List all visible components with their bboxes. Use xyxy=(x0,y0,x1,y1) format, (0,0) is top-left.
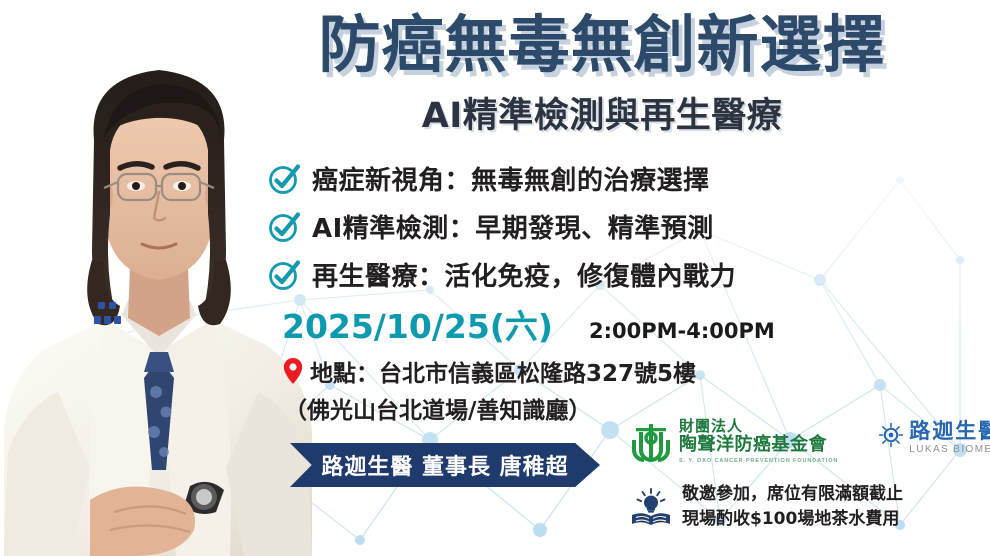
poster-canvas: 防癌無毒無創新選擇 AI精準檢測與再生醫療 癌症新視角：無毒無創的治療選擇 AI… xyxy=(0,0,990,556)
registration-note-text: 敬邀參加，席位有限滿額截止 現場酌收$100場地茶水費用 xyxy=(682,482,903,531)
speaker-name-label: 路迦生醫 董事長 唐稚超 xyxy=(321,449,568,481)
registration-note: 敬邀參加，席位有限滿額截止 現場酌收$100場地茶水費用 xyxy=(630,482,903,531)
list-item: 癌症新視角：無毒無創的治療選擇 xyxy=(268,160,736,197)
speaker-name-banner: 路迦生醫 董事長 唐稚超 xyxy=(290,443,600,487)
page-title: 防癌無毒無創新選擇 xyxy=(226,12,978,79)
check-circle-icon xyxy=(268,259,300,291)
list-item: AI精準檢測：早期發現、精準預測 xyxy=(268,208,736,245)
lightbulb-book-icon xyxy=(630,487,672,527)
foundation-line1: 財團法人 xyxy=(679,418,838,435)
map-pin-icon xyxy=(282,357,304,385)
registration-note-line1: 敬邀參加，席位有限滿額截止 xyxy=(682,482,903,507)
list-item: 再生醫療：活化免疫，修復體內戰力 xyxy=(268,256,736,293)
foundation-english-name: S. Y. DAO CANCER PREVENTION FOUNDATION xyxy=(679,458,838,464)
feature-bullet-list: 癌症新視角：無毒無創的治療選擇 AI精準檢測：早期發現、精準預測 再生醫療：活化… xyxy=(268,160,736,304)
event-date: 2025/10/25(六) xyxy=(282,300,553,348)
foundation-line2: 陶聲洋防癌基金會 xyxy=(679,435,838,456)
registration-note-line2: 現場酌收$100場地茶水費用 xyxy=(682,507,903,532)
check-circle-icon xyxy=(268,211,300,243)
event-details-block: 2025/10/25(六) 2:00PM-4:00PM 地點：台北市信義區松隆路… xyxy=(282,300,775,425)
lukas-cell-icon xyxy=(878,422,904,448)
page-subtitle: AI精準檢測與再生醫療 xyxy=(226,87,978,138)
headline-block: 防癌無毒無創新選擇 AI精準檢測與再生醫療 xyxy=(226,12,978,138)
check-circle-icon xyxy=(268,163,300,195)
list-item-label: 再生醫療：活化免疫，修復體內戰力 xyxy=(312,256,736,293)
event-venue-address: 地點：台北市信義區松隆路327號5樓 xyxy=(310,354,696,388)
list-item-label: AI精準檢測：早期發現、精準預測 xyxy=(312,208,714,245)
lukas-chinese-name: 路迦生醫 xyxy=(909,420,990,442)
lukas-logo: 路迦生醫 LUKAS BIOMEDICAL xyxy=(878,420,990,455)
foundation-text: 財團法人 陶聲洋防癌基金會 S. Y. DAO CANCER PREVENTIO… xyxy=(679,418,838,463)
sponsor-logos: 財團法人 陶聲洋防癌基金會 S. Y. DAO CANCER PREVENTIO… xyxy=(628,418,990,464)
lukas-text: 路迦生醫 LUKAS BIOMEDICAL xyxy=(909,420,990,455)
event-datetime-row: 2025/10/25(六) 2:00PM-4:00PM xyxy=(282,300,775,348)
lukas-english-name: LUKAS BIOMEDICAL xyxy=(909,444,990,455)
list-item-label: 癌症新視角：無毒無創的治療選擇 xyxy=(312,160,710,197)
foundation-tree-icon xyxy=(628,418,674,464)
event-venue-row: 地點：台北市信義區松隆路327號5樓 xyxy=(282,354,775,388)
foundation-logo: 財團法人 陶聲洋防癌基金會 S. Y. DAO CANCER PREVENTIO… xyxy=(628,418,838,464)
event-time: 2:00PM-4:00PM xyxy=(589,319,775,343)
